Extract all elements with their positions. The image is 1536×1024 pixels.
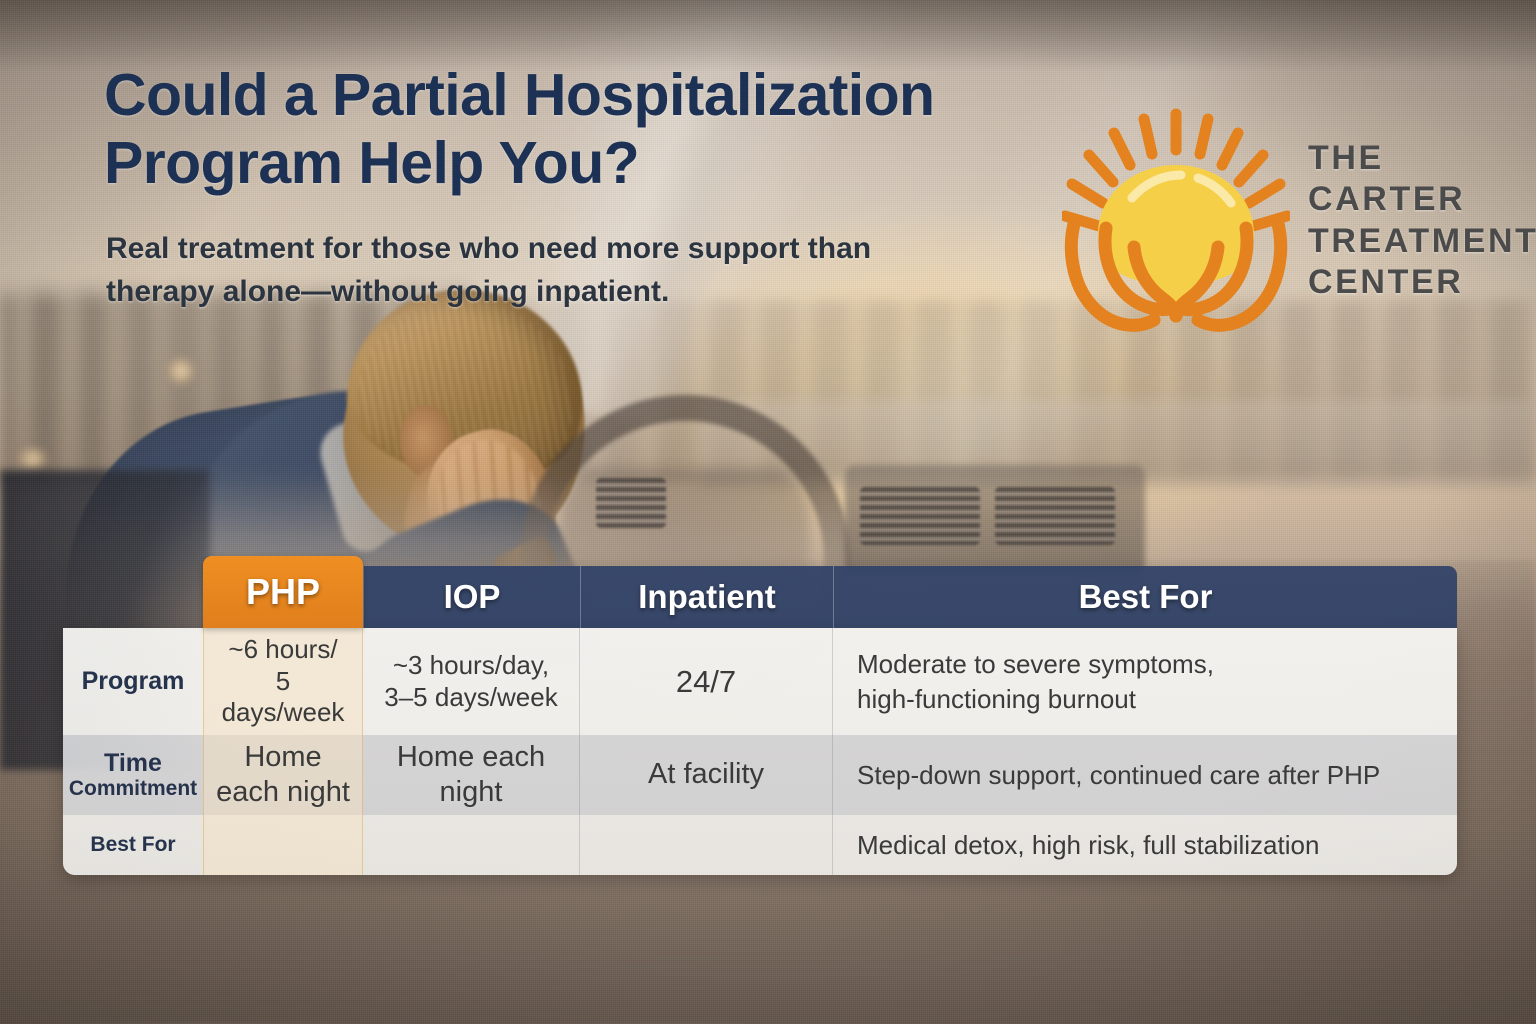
table-row: Time Commitment Homeeach night Home each… <box>63 735 1457 815</box>
page-subtitle: Real treatment for those who need more s… <box>106 228 986 313</box>
row-label-main: Best For <box>90 833 175 856</box>
comparison-table: PHP IOP Inpatient Best For Program ~6 ho… <box>63 566 1457 875</box>
cell-inpatient-program: 24/7 <box>580 628 833 735</box>
brand-line-2: CARTER <box>1308 179 1536 220</box>
row-label-program: Program <box>63 628 203 735</box>
brand-line-3: TREATMENT <box>1308 221 1536 262</box>
table-header-iop[interactable]: IOP <box>363 566 580 628</box>
row-label-best-for: Best For <box>63 815 203 875</box>
table-body: Program ~6 hours/5 days/week ~3 hours/da… <box>63 628 1457 875</box>
row-label-time-commitment: Time Commitment <box>63 735 203 815</box>
brand-wordmark: THE CARTER TREATMENT CENTER <box>1308 138 1536 304</box>
cell-best-for-time: Step-down support, continued care after … <box>833 735 1457 815</box>
cell-best-for-program: Moderate to severe symptoms,high-functio… <box>833 628 1457 735</box>
cell-iop-best <box>363 815 580 875</box>
row-label-main: Time <box>104 750 162 776</box>
brand-line-4: CENTER <box>1308 262 1536 303</box>
table-header-inpatient[interactable]: Inpatient <box>580 566 833 628</box>
table-header-best-for[interactable]: Best For <box>833 566 1457 628</box>
table-row: Best For Medical detox, high risk, full … <box>63 815 1457 875</box>
cell-php-best <box>203 815 363 875</box>
page-title: Could a Partial Hospitalization Program … <box>104 62 1104 198</box>
brand-line-1: THE <box>1308 138 1536 179</box>
cell-php-time: Homeeach night <box>203 735 363 815</box>
table-row: Program ~6 hours/5 days/week ~3 hours/da… <box>63 628 1457 735</box>
cell-inpatient-best <box>580 815 833 875</box>
cell-best-for-best: Medical detox, high risk, full stabiliza… <box>833 815 1457 875</box>
infographic-canvas: Could a Partial Hospitalization Program … <box>0 0 1536 1024</box>
row-label-sub: Commitment <box>69 777 197 800</box>
brand-logo[interactable]: THE CARTER TREATMENT CENTER <box>1062 108 1536 333</box>
table-header-blank <box>63 566 203 628</box>
cell-php-program: ~6 hours/5 days/week <box>203 628 363 735</box>
row-label-main: Program <box>82 668 185 694</box>
cell-inpatient-time: At facility <box>580 735 833 815</box>
cell-iop-program: ~3 hours/day,3–5 days/week <box>363 628 580 735</box>
table-header-php[interactable]: PHP <box>203 556 363 628</box>
sun-in-hands-icon <box>1062 108 1290 333</box>
cell-iop-time: Home eachnight <box>363 735 580 815</box>
table-header-row: PHP IOP Inpatient Best For <box>63 566 1457 628</box>
